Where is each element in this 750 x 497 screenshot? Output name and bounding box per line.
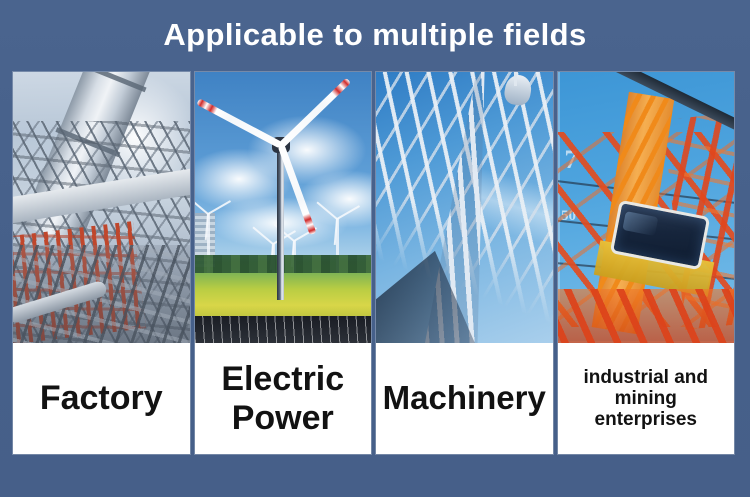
- solar-panel-row: [195, 316, 372, 343]
- industrial-factory-photo: [13, 72, 190, 343]
- tower-mast: [514, 72, 517, 86]
- field-card-machinery[interactable]: Machinery: [376, 72, 553, 454]
- card-label-industrial-mining: industrial and mining enterprises: [558, 343, 735, 454]
- promo-banner: Applicable to multiple fields Factory: [0, 0, 750, 497]
- field-card-strip: Factory: [13, 72, 734, 454]
- turbine-tower: [277, 142, 284, 299]
- crane-base-frame: [558, 289, 735, 343]
- banner-title-bar: Applicable to multiple fields: [0, 0, 750, 68]
- page-title: Applicable to multiple fields: [163, 19, 586, 50]
- field-card-electric-power[interactable]: Electric Power: [195, 72, 372, 454]
- wind-turbine-photo: [195, 72, 372, 343]
- lattice-tower-photo: [376, 72, 553, 343]
- card-label-machinery: Machinery: [376, 343, 553, 454]
- card-label-text: Electric Power: [201, 360, 366, 436]
- card-label-factory: Factory: [13, 343, 190, 454]
- field-card-factory[interactable]: Factory: [13, 72, 190, 454]
- field-card-industrial-mining[interactable]: 7 50 industrial and mining enterprises: [558, 72, 735, 454]
- card-label-electric-power: Electric Power: [195, 343, 372, 454]
- card-label-text: industrial and mining enterprises: [564, 367, 729, 431]
- tower-crane-photo: 7 50: [558, 72, 735, 343]
- card-label-text: Factory: [40, 379, 163, 417]
- card-label-text: Machinery: [383, 380, 546, 417]
